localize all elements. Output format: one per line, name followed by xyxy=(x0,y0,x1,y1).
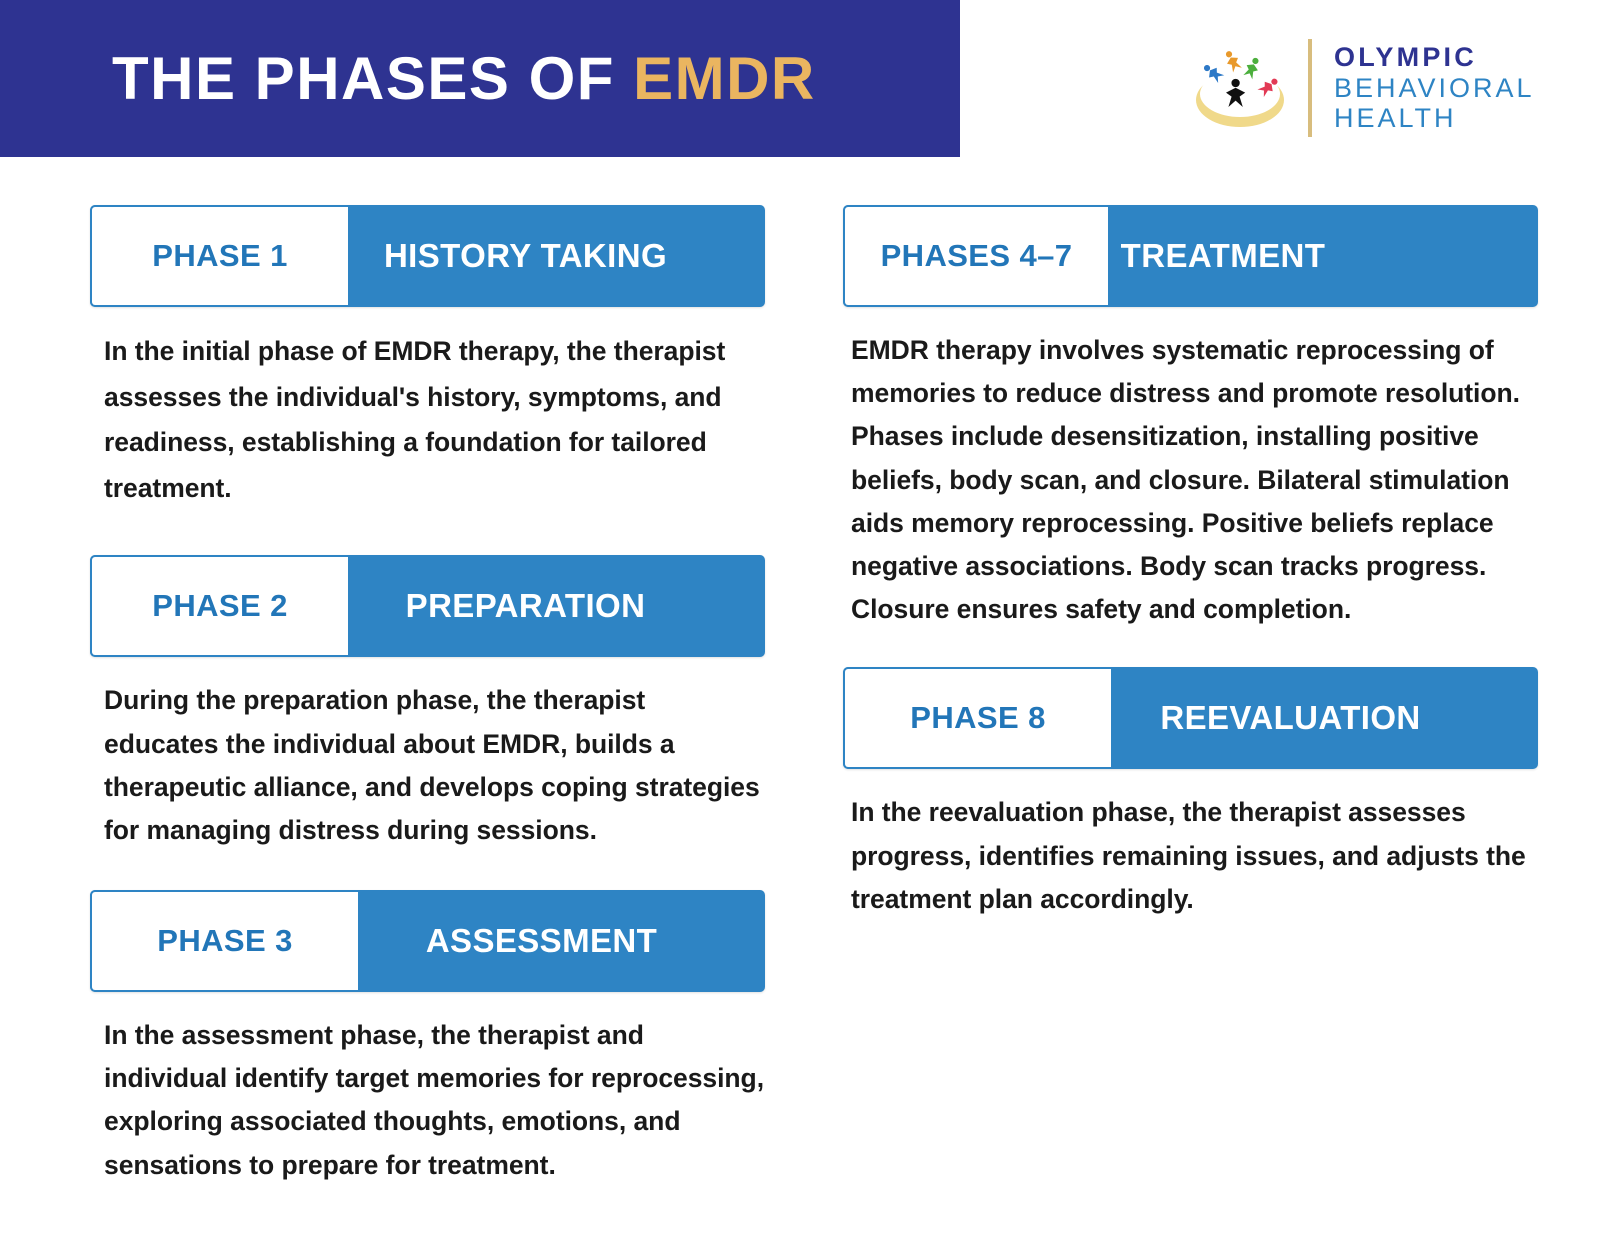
phase-description-3: In the assessment phase, the therapist a… xyxy=(90,992,765,1187)
phase-header-8[interactable]: PHASE 8 REEVALUATION xyxy=(843,667,1538,769)
phase-number-1: PHASE 1 xyxy=(90,205,348,307)
page-title-accent: EMDR xyxy=(633,45,816,112)
olympic-emblem-icon xyxy=(1188,38,1292,138)
phase-name-2: PREPARATION xyxy=(348,555,765,657)
phase-name-8: REEVALUATION xyxy=(1111,667,1538,769)
phase-number-8: PHASE 8 xyxy=(843,667,1111,769)
phase-number-4-7: PHASES 4–7 xyxy=(843,205,1108,307)
right-column: PHASES 4–7 TREATMENT EMDR therapy involv… xyxy=(843,205,1538,921)
logo-line-olympic: OLYMPIC xyxy=(1334,42,1535,73)
phase-header-2[interactable]: PHASE 2 PREPARATION xyxy=(90,555,765,657)
phase-description-4-7: EMDR therapy involves systematic reproce… xyxy=(843,307,1538,631)
phase-header-4-7[interactable]: PHASES 4–7 TREATMENT xyxy=(843,205,1538,307)
phase-description-8: In the reevaluation phase, the therapist… xyxy=(843,769,1538,921)
phase-name-1: HISTORY TAKING xyxy=(348,205,765,307)
spacer xyxy=(843,631,1538,667)
brand-logo: OLYMPIC BEHAVIORAL HEALTH xyxy=(1188,28,1528,148)
logo-divider xyxy=(1308,39,1312,137)
phase-name-4-7: TREATMENT xyxy=(1108,205,1538,307)
left-column: PHASE 1 HISTORY TAKING In the initial ph… xyxy=(90,205,765,1187)
logo-wordmark: OLYMPIC BEHAVIORAL HEALTH xyxy=(1334,42,1535,134)
logo-line-behavioral: BEHAVIORAL xyxy=(1334,73,1535,104)
phase-description-1: In the initial phase of EMDR therapy, th… xyxy=(90,307,765,511)
page-title-main: THE PHASES OF xyxy=(112,45,633,112)
phase-name-3: ASSESSMENT xyxy=(358,890,765,992)
phase-description-2: During the preparation phase, the therap… xyxy=(90,657,765,852)
page-title: THE PHASES OF EMDR xyxy=(0,49,816,109)
infographic-page: THE PHASES OF EMDR xyxy=(0,0,1600,1250)
phase-header-3[interactable]: PHASE 3 ASSESSMENT xyxy=(90,890,765,992)
logo-line-health: HEALTH xyxy=(1334,103,1535,134)
header-banner: THE PHASES OF EMDR xyxy=(0,0,960,157)
phase-number-3: PHASE 3 xyxy=(90,890,358,992)
spacer xyxy=(90,852,765,890)
phase-header-1[interactable]: PHASE 1 HISTORY TAKING xyxy=(90,205,765,307)
phase-number-2: PHASE 2 xyxy=(90,555,348,657)
spacer xyxy=(90,511,765,555)
